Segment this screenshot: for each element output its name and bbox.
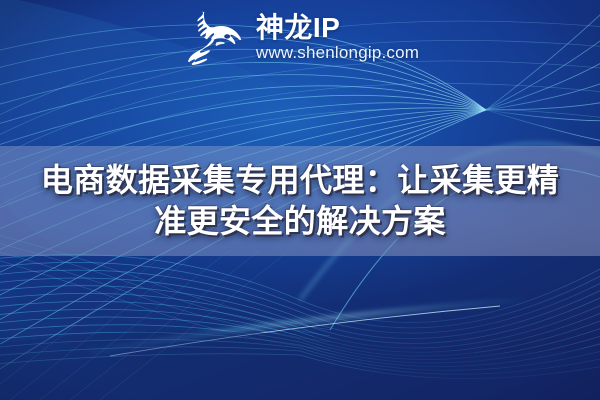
brand-logo: 神龙IP www.shenlongip.com bbox=[0, 6, 600, 70]
brand-text-block: 神龙IP www.shenlongip.com bbox=[256, 14, 419, 63]
headline-line-1: 电商数据采集专用代理：让采集更精 bbox=[0, 160, 600, 201]
promo-banner: 神龙IP www.shenlongip.com 电商数据采集专用代理：让采集更精… bbox=[0, 0, 600, 400]
dragon-head-icon bbox=[181, 9, 247, 67]
brand-url: www.shenlongip.com bbox=[256, 44, 419, 63]
headline: 电商数据采集专用代理：让采集更精 准更安全的解决方案 bbox=[0, 160, 600, 242]
headline-line-2: 准更安全的解决方案 bbox=[0, 201, 600, 242]
brand-name: 神龙IP bbox=[256, 14, 419, 43]
